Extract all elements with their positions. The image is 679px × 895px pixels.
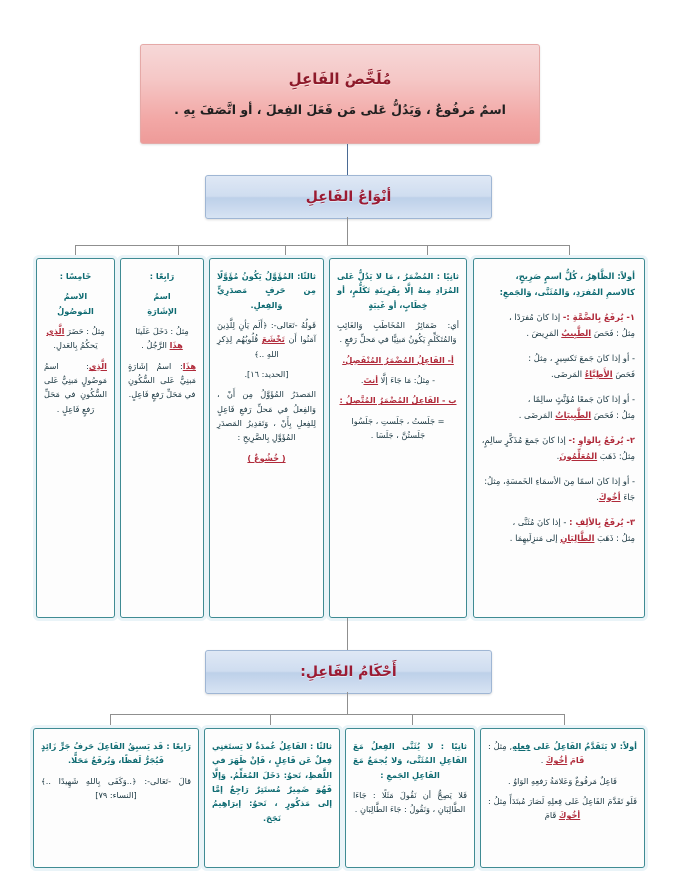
connector-banner-to-types xyxy=(347,144,348,175)
fourth-example: مِثلُ : دَخَلَ عَلَينَا هذَا الرَّجُلُ . xyxy=(128,324,196,353)
connector-rules-drop-4 xyxy=(110,714,111,728)
section-header-types: أنْوَاعُ الفَاعِلِ xyxy=(205,175,492,219)
connector-rules-drop-3 xyxy=(270,714,271,728)
second-body: أي: ضَمَائِرُ المُخَاطَبِ وَالغَائِبِ وَ… xyxy=(337,318,459,347)
type-box-second-mudmar: ثانِيًا : المُضْمَرُ ، مَا لا يَدُلُّ عَ… xyxy=(329,258,467,618)
rule4-quote: قالَ -تَعَالى-: ﴿..وَكَفَى بِاللهِ شَهِي… xyxy=(41,774,191,803)
rule3-heading: ثالثًا : الفَاعِلُ عُمدَةٌ لا يَستَغنِي … xyxy=(212,739,332,825)
third-quote: قَولُهُ -تَعَالى-: ﴿أَلَم يَأنِ لِلَّذِي… xyxy=(217,318,316,361)
connector-types-stem xyxy=(347,217,348,245)
connector-to-rules xyxy=(347,618,348,650)
first-rule-2: ٢- يُرفَعُ بِالوَاوِ :- إذا كانَ جَمعَ م… xyxy=(481,433,635,465)
section-header-rules: أَحْكَامُ الفَاعِلِ: xyxy=(205,650,492,694)
fourth-heading2: اسمُ الإشَارَةِ xyxy=(128,289,196,318)
first-rule-1: ١- يُرفَعُ بِالضَّمَّةِ :- إذا كانَ مُفر… xyxy=(481,310,635,342)
connector-types-drop-2 xyxy=(427,245,428,258)
rule4-heading: رَابِعًا : قَد يَسبِقُ الفَاعِلَ حَرفُ ج… xyxy=(41,739,191,768)
connector-types-drop-3 xyxy=(285,245,286,258)
third-quote-ref: [الحديد: ١٦]. xyxy=(217,367,316,381)
connector-rules-drop-2 xyxy=(412,714,413,728)
connector-rules-bus xyxy=(110,714,565,715)
fifth-analysis: الَّذِي: اسمُ مَوصُولٍ مَبنِيٌّ عَلى الس… xyxy=(44,359,107,416)
section-header-rules-label: أَحْكَامُ الفَاعِلِ: xyxy=(300,664,396,680)
connector-types-drop-5 xyxy=(75,245,76,258)
connector-types-bus xyxy=(75,245,570,246)
fifth-heading: خَامِسًا : xyxy=(44,269,107,283)
section-header-types-label: أنْوَاعُ الفَاعِلِ xyxy=(306,189,392,205)
fifth-heading2: الاسمُ المَوصُولُ xyxy=(44,289,107,318)
page-definition: اسمٌ مَرفُوعٌ ، وَيَدُلُّ عَلى مَن فَعَل… xyxy=(174,100,506,120)
type-box-first-dhahir: أولاً: الظَّاهِرُ ، كُلُّ اسمٍ صَرِيحٍ، … xyxy=(473,258,645,618)
type-box-fourth-ism-ishara: رَابِعًا : اسمُ الإشَارَةِ مِثلُ : دَخَل… xyxy=(120,258,204,618)
connector-types-drop-1 xyxy=(569,245,570,258)
rule-box-third: ثالثًا : الفَاعِلُ عُمدَةٌ لا يَستَغنِي … xyxy=(204,728,340,868)
rule2-body: فَلا يَصِحُّ أن نَقُولَ مَثَلًا : جَاءَا… xyxy=(353,788,467,817)
rule-box-second: ثانِيًا : لا يُثَنَّى الفِعلُ مَعَ الفَا… xyxy=(345,728,475,868)
first-rule-1b: - أو إذا كانَ جَمعَ تَكسِيرٍ ، مِثلُ : ف… xyxy=(481,351,635,383)
title-banner: مُلَخَّصُ الفَاعِلِ اسمٌ مَرفُوعٌ ، وَيَ… xyxy=(140,44,540,144)
rule1-heading: أولاً: لا يَتَقَدَّمُ الفَاعِلُ عَلى فِع… xyxy=(488,739,637,768)
page-title: مُلَخَّصُ الفَاعِلِ xyxy=(289,68,392,91)
connector-rules-drop-1 xyxy=(564,714,565,728)
third-heading: ثالثًا: المُؤَوَّلُ يَكُونُ مُؤَوَّلًا م… xyxy=(217,269,316,312)
first-heading: أولاً: الظَّاهِرُ ، كُلُّ اسمٍ صَرِيحٍ، … xyxy=(481,269,635,301)
first-rule-2b: - أو إذا كانَ اسمًا مِنَ الأسمَاءِ الخَم… xyxy=(481,474,635,506)
rule1-body: فَاعِلٌ مَرفُوعٌ وَعَلامَةُ رَفعِهِ الوَ… xyxy=(488,774,637,788)
second-heading: ثانِيًا : المُضْمَرُ ، مَا لا يَدُلُّ عَ… xyxy=(337,269,459,312)
first-rule-1c: - أو إذا كانَ جَمعًا مُؤَنَّثٍ سالِمًا ،… xyxy=(481,392,635,424)
second-sub-a-example: - مِثلُ: مَا جَاءَ إلَّا أنتَ. xyxy=(337,373,459,387)
rule2-heading: ثانِيًا : لا يُثَنَّى الفِعلُ مَعَ الفَا… xyxy=(353,739,467,782)
rule-box-first: أولاً: لا يَتَقَدَّمُ الفَاعِلُ عَلى فِع… xyxy=(480,728,645,868)
rule-box-fourth: رَابِعًا : قَد يَسبِقُ الفَاعِلَ حَرفُ ج… xyxy=(33,728,199,868)
fifth-example: مِثلُ : حَضَرَ الَّذِي يَحكُمُ بِالعَدلِ… xyxy=(44,324,107,353)
third-body-word: ( خُشُوعٌ ) xyxy=(217,451,316,465)
first-rule-3: ٣- يُرفَعُ بِالألِفِ : - إذا كانَ مُثَنَ… xyxy=(481,515,635,547)
type-box-third-muawwal: ثالثًا: المُؤَوَّلُ يَكُونُ مُؤَوَّلًا م… xyxy=(209,258,324,618)
third-body: المَصدَرُ المُؤَوَّلُ مِن أَنْ ، وَالفِع… xyxy=(217,387,316,444)
type-box-fifth-ism-mawsul: خَامِسًا : الاسمُ المَوصُولُ مِثلُ : حَض… xyxy=(36,258,115,618)
fourth-heading: رَابِعًا : xyxy=(128,269,196,283)
fourth-analysis: هذَا: اسمُ إشَارَةٍ مَبنِيٌّ عَلى السُّك… xyxy=(128,359,196,402)
connector-types-drop-4 xyxy=(178,245,179,258)
mindmap-page: مُلَخَّصُ الفَاعِلِ اسمٌ مَرفُوعٌ ، وَيَ… xyxy=(0,0,679,895)
second-sub-b-title: ب - الفَاعِلُ المُضْمَرُ المُتَّصِلُ : xyxy=(337,393,459,407)
second-sub-b-example: = جَلَستُ ، جَلَستِ ، جَلَسُوا جَلَستُنَ… xyxy=(337,414,459,443)
rule1-body2: فَلَو تَقَدَّمَ الفَاعِلُ عَلى فِعلِهِ ل… xyxy=(488,794,637,823)
connector-rules-stem xyxy=(347,692,348,714)
second-sub-a-title: أ- الفَاعِلُ المُضْمَرُ المُنْفَصِلُ. xyxy=(337,353,459,367)
